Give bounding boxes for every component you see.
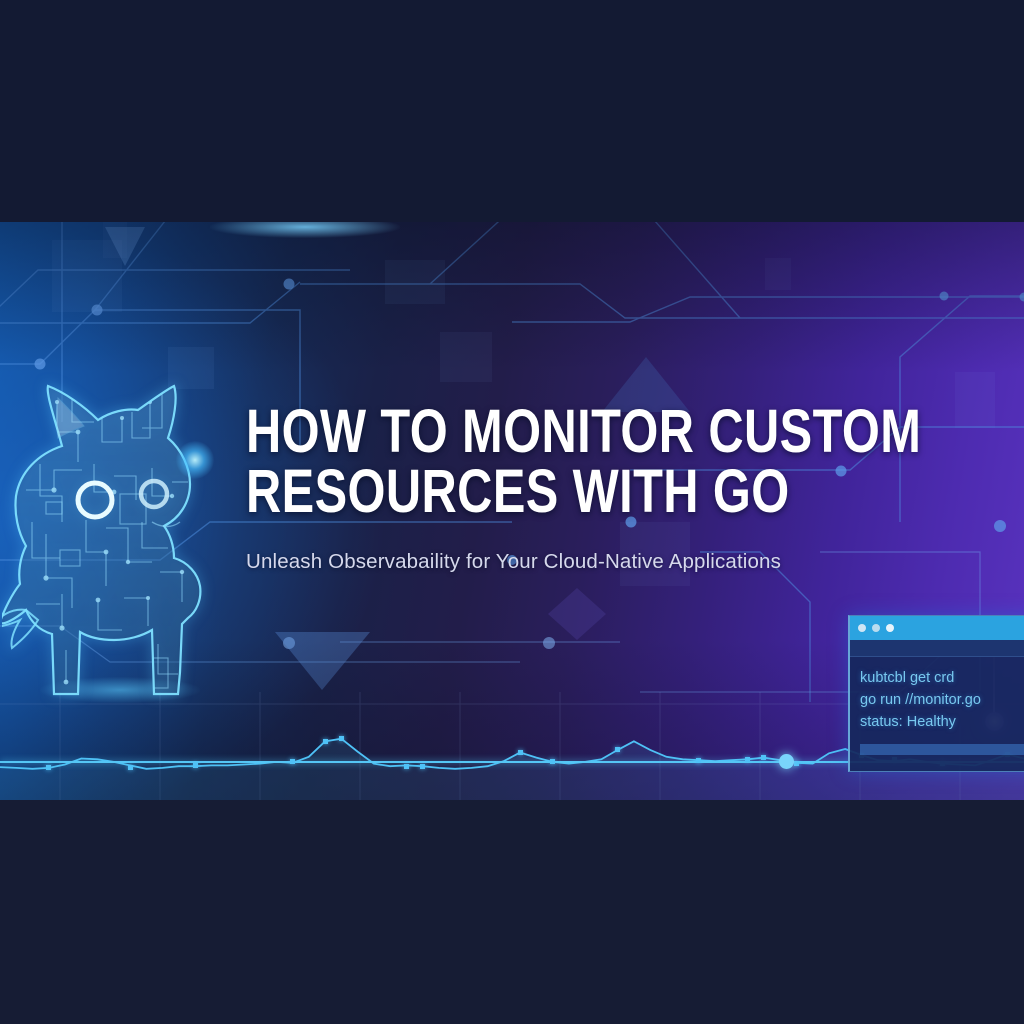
page-title: HOW TO MONITOR CUSTOM RESOURCES WITH GO: [246, 402, 774, 522]
title-line-1: HOW TO MONITOR CUSTOM: [246, 397, 921, 465]
window-minimize-icon[interactable]: [872, 624, 880, 632]
chart-data-point: [290, 759, 295, 764]
chart-data-point: [745, 757, 750, 762]
chart-focus-point: [779, 754, 794, 769]
chart-data-point: [339, 736, 344, 741]
letterbox-top: [0, 0, 1024, 222]
chart-data-point: [550, 759, 555, 764]
chart-data-point: [128, 765, 133, 770]
circuit-fox-mascot: [2, 372, 227, 722]
terminal-tabbar: [850, 640, 1024, 657]
chart-data-point: [420, 764, 425, 769]
headline-block: HOW TO MONITOR CUSTOM RESOURCES WITH GO …: [246, 402, 906, 574]
chart-data-point: [323, 739, 328, 744]
title-line-2: RESOURCES WITH GO: [246, 462, 774, 522]
terminal-line: go run //monitor.go: [860, 689, 1024, 711]
terminal-line: status: Healthy: [860, 711, 1024, 733]
chart-data-point: [404, 764, 409, 769]
terminal-titlebar[interactable]: [850, 616, 1024, 640]
terminal-output[interactable]: kubtcbl get crd go run //monitor.go stat…: [850, 657, 1024, 733]
window-maximize-icon[interactable]: [886, 624, 894, 632]
mascot-nose-glow: [176, 441, 214, 479]
terminal-highlight-bar: [860, 744, 1024, 755]
chart-data-point: [761, 755, 766, 760]
chart-data-point: [193, 763, 198, 768]
page-subtitle: Unleash Observabaility for Your Cloud-Na…: [246, 550, 906, 574]
chart-data-point: [518, 750, 523, 755]
chart-data-point: [46, 765, 51, 770]
banner-canvas: HOW TO MONITOR CUSTOM RESOURCES WITH GO …: [0, 0, 1024, 1024]
window-close-icon[interactable]: [858, 624, 866, 632]
letterbox-bottom: [0, 800, 1024, 1024]
chart-data-point: [615, 747, 620, 752]
chart-data-point: [696, 758, 701, 763]
chart-data-point: [794, 761, 799, 766]
banner-hero: HOW TO MONITOR CUSTOM RESOURCES WITH GO …: [0, 222, 1024, 800]
light-beam: [210, 222, 400, 238]
terminal-line: kubtcbl get crd: [860, 667, 1024, 689]
terminal-window[interactable]: kubtcbl get crd go run //monitor.go stat…: [848, 615, 1024, 772]
